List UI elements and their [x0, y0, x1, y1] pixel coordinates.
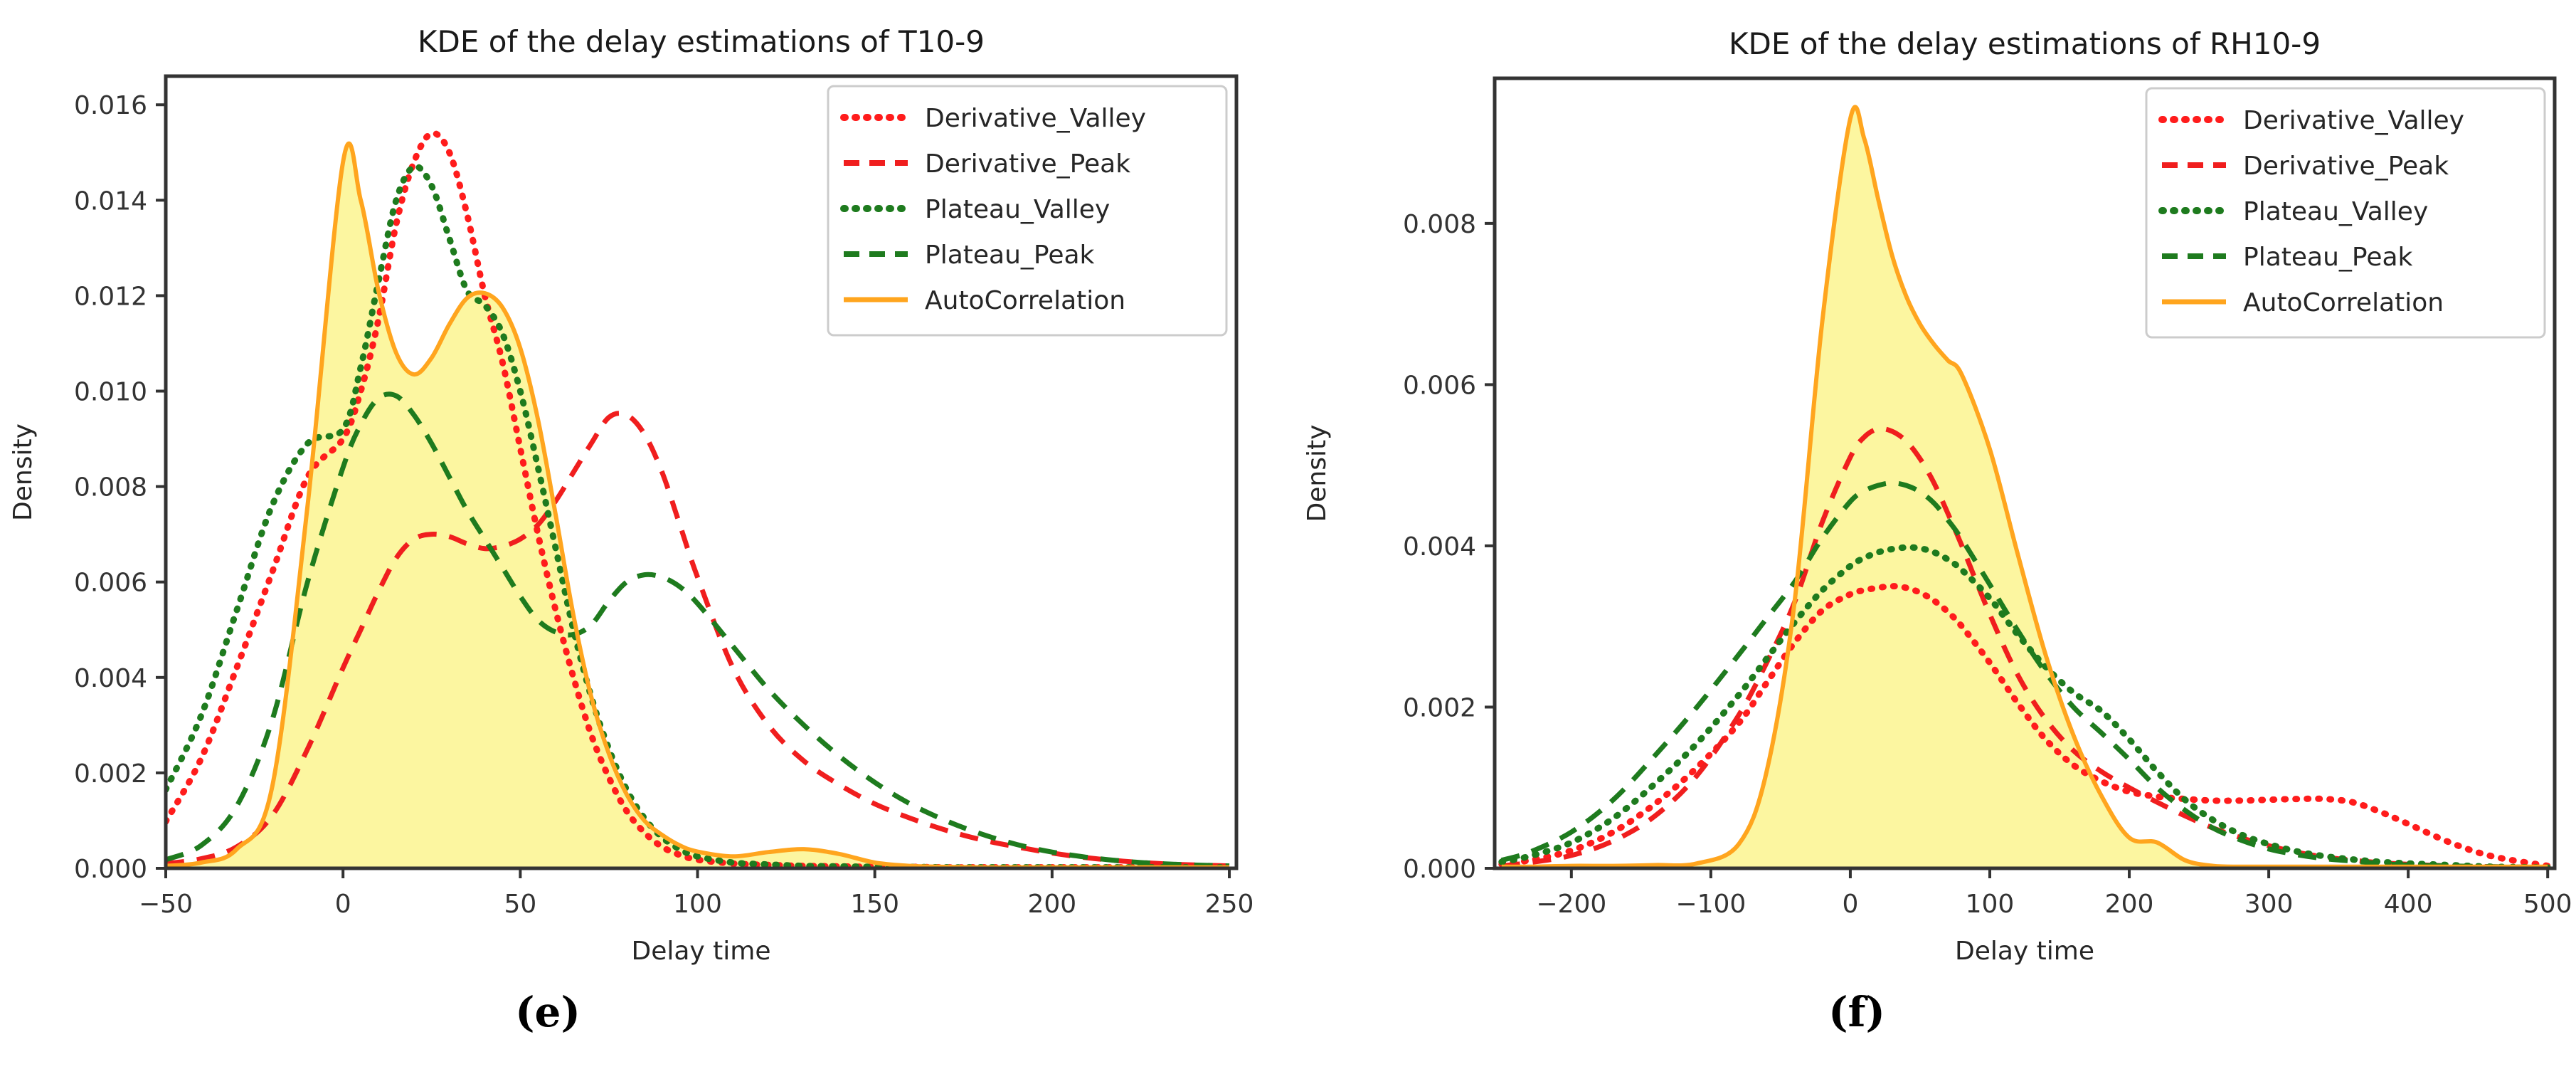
legend-label-derivative_peak: Derivative_Peak	[925, 149, 1130, 179]
y-tick-label: 0.016	[74, 91, 147, 120]
y-tick-label: 0.008	[74, 473, 147, 502]
subfigure-label-f: (f)	[1779, 991, 1935, 1033]
legend-label-plateau_peak: Plateau_Peak	[925, 241, 1095, 270]
x-tick-label: −50	[139, 890, 193, 919]
y-tick-label: 0.008	[1403, 210, 1476, 239]
y-tick-label: 0.004	[1403, 532, 1476, 562]
chart-e: KDE of the delay estimations of T10-9−50…	[0, 0, 1288, 982]
y-tick-label: 0.002	[74, 759, 147, 789]
x-tick-label: 0	[1842, 890, 1858, 919]
kde-figure: KDE of the delay estimations of T10-9−50…	[0, 0, 2576, 1074]
x-tick-label: 150	[850, 890, 899, 919]
x-tick-label: 200	[2105, 890, 2154, 919]
y-tick-label: 0.002	[1403, 693, 1476, 722]
y-tick-label: 0.012	[74, 282, 147, 311]
legend-label-derivative_valley: Derivative_Valley	[925, 104, 1146, 133]
legend-label-derivative_peak: Derivative_Peak	[2243, 152, 2449, 181]
x-tick-label: 200	[1028, 890, 1077, 919]
x-tick-label: 400	[2384, 890, 2433, 919]
x-axis-label: Delay time	[1955, 937, 2094, 966]
legend-label-plateau_peak: Plateau_Peak	[2243, 243, 2413, 272]
x-tick-label: 0	[335, 890, 351, 919]
y-tick-label: 0.004	[74, 664, 147, 693]
legend-label-autocorrelation: AutoCorrelation	[2243, 288, 2444, 317]
y-tick-label: 0.006	[74, 569, 147, 598]
x-tick-label: −100	[1675, 890, 1746, 919]
x-tick-label: 250	[1205, 890, 1254, 919]
subfigure-label-e: (e)	[470, 991, 626, 1033]
y-tick-label: 0.000	[1403, 855, 1476, 884]
x-tick-label: 500	[2523, 890, 2572, 919]
x-tick-label: 100	[1966, 890, 2015, 919]
chart-title: KDE of the delay estimations of T10-9	[418, 24, 985, 59]
y-tick-label: 0.014	[74, 186, 147, 216]
legend-label-plateau_valley: Plateau_Valley	[925, 195, 1110, 224]
y-tick-label: 0.000	[74, 855, 147, 884]
x-tick-label: −200	[1536, 890, 1606, 919]
legend-label-derivative_valley: Derivative_Valley	[2243, 106, 2464, 135]
x-axis-label: Delay time	[631, 937, 770, 966]
x-tick-label: 50	[504, 890, 536, 919]
panel-e: KDE of the delay estimations of T10-9−50…	[0, 0, 1288, 1074]
legend-label-autocorrelation: AutoCorrelation	[925, 286, 1125, 315]
x-tick-label: 300	[2244, 890, 2294, 919]
y-tick-label: 0.006	[1403, 371, 1476, 400]
y-axis-label: Density	[1303, 425, 1332, 522]
chart-f: KDE of the delay estimations of RH10-9−2…	[1288, 0, 2576, 982]
chart-title: KDE of the delay estimations of RH10-9	[1729, 26, 2321, 61]
x-tick-label: 100	[673, 890, 722, 919]
y-axis-label: Density	[9, 423, 38, 521]
panel-f: KDE of the delay estimations of RH10-9−2…	[1288, 0, 2576, 1074]
y-tick-label: 0.010	[74, 378, 147, 407]
legend-label-plateau_valley: Plateau_Valley	[2243, 197, 2428, 226]
